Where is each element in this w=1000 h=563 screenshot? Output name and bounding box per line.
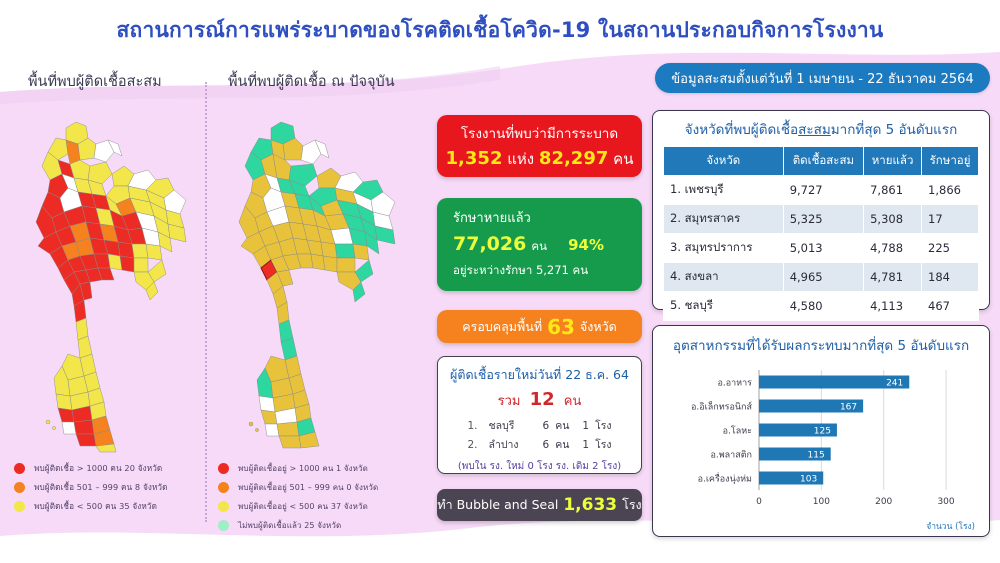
legend-item: พบผู้ติดเชื้ออยู่ < 500 คน 37 จังหวัด [218,500,378,513]
cell-treating: 184 [922,263,979,292]
title-post: มากที่สุด 5 อันดับแรก [831,122,958,138]
cell-treating: 467 [922,292,979,321]
recovered-box: รักษาหายแล้ว 77,026 คน 94% อยู่ระหว่างรั… [437,198,642,291]
top-industries-panel: อุตสาหกรรมที่ได้รับผลกระทบมากที่สุด 5 อั… [652,325,990,537]
legend-cumulative: พบผู้ติดเชื้อ > 1000 คน 20 จังหวัด พบผู้… [14,462,168,519]
legend-dot-red [218,463,229,474]
legend-dot-orange [218,482,229,493]
factories-outbreak-box: โรงงานที่พบว่ามีการระบาด 1,352 แห่ง 82,2… [437,115,642,177]
legend-label: พบผู้ติดเชื้อ 501 – 999 คน 8 จังหวัด [34,481,168,494]
coverage-box: ครอบคลุมพื้นที่ 63 จังหวัด [437,310,642,343]
cell-cumulative: 4,580 [783,292,863,321]
treating-label: อยู่ระหว่างรักษา [453,263,532,277]
bar-category-label: อ.โลหะ [723,426,753,437]
top-industries-title: อุตสาหกรรมที่ได้รับผลกระทบมากที่สุด 5 อั… [663,334,979,356]
table-row: 1. เพชรบุรี 9,727 7,861 1,866 [664,176,979,205]
col-recovered: หายแล้ว [864,147,922,176]
bar-category-label: อ.พลาสติก [710,450,752,461]
bubble-seal-value: 1,633 [563,495,617,515]
legend-label: พบผู้ติดเชื้ออยู่ > 1000 คน 1 จังหวัด [238,462,368,475]
cell-recovered: 4,113 [864,292,922,321]
bar-value-label: 125 [814,427,831,437]
factories-count: 1,352 [446,148,503,169]
legend-item: พบผู้ติดเชื้อ 501 – 999 คน 8 จังหวัด [14,481,168,494]
bar-value-label: 167 [840,403,857,413]
legend-current: พบผู้ติดเชื้ออยู่ > 1000 คน 1 จังหวัด พบ… [218,462,378,538]
recovered-label: รักษาหายแล้ว [453,207,642,228]
legend-dot-red [14,463,25,474]
legend-label: พบผู้ติดเชื้อ < 500 คน 35 จังหวัด [34,500,157,513]
cell-treating: 17 [922,205,979,234]
table-row: 1. ชลบุรี 6 คน 1 โรง [464,416,614,435]
legend-label: พบผู้ติดเชื้ออยู่ 501 – 999 คน 0 จังหวัด [238,481,378,494]
bar-value-label: 103 [800,475,817,485]
bar-category-label: อ.เครื่องนุ่งห่ม [698,472,752,485]
col-treating: รักษาอยู่ [922,147,979,176]
cell-recovered: 4,788 [864,234,922,263]
x-axis-tick-label: 200 [875,497,892,507]
row-factories: 1 [572,416,592,435]
legend-item: พบผู้ติดเชื้ออยู่ > 1000 คน 1 จังหวัด [218,462,378,475]
coverage-suffix: จังหวัด [580,317,617,337]
recovered-values: 77,026 คน 94% [453,233,642,256]
legend-dot-orange [14,482,25,493]
treating-row: อยู่ระหว่างรักษา 5,271 คน [453,262,642,280]
legend-dot-yellow [218,501,229,512]
recovered-value: 77,026 [453,233,526,255]
row-people-unit: คน [552,416,572,435]
legend-dot-mint [218,520,229,531]
legend-dot-yellow [14,501,25,512]
bar-value-label: 115 [808,451,825,461]
cell-treating: 1,866 [922,176,979,205]
new-cases-header: ผู้ติดเชื้อรายใหม่วันที่ 22 ธ.ค. 64 [438,365,641,385]
coverage-value: 63 [547,315,575,339]
treating-unit: คน [573,263,589,277]
table-row: 2. สมุทรสาคร 5,325 5,308 17 [664,205,979,234]
col-province: จังหวัด [664,147,784,176]
thailand-map-current [215,104,415,454]
cell-cumulative: 4,965 [783,263,863,292]
coverage-prefix: ครอบคลุมพื้นที่ [462,317,542,337]
bubble-and-seal-box: ทำ Bubble and Seal 1,633 โรง [437,489,642,521]
legend-item: พบผู้ติดเชื้อ > 1000 คน 20 จังหวัด [14,462,168,475]
title-pre: จังหวัดที่พบผู้ติดเชื้อ [685,122,798,138]
bar-category-label: อ.อิเล็กทรอนิกส์ [691,400,752,413]
x-axis-tick-label: 0 [756,497,762,507]
map-divider [205,82,207,522]
page-title: สถานการณ์การแพร่ระบาดของโรคติดเชื้อโควิด… [0,14,1000,47]
cell-cumulative: 5,325 [783,205,863,234]
row-rank: 1. [464,416,480,435]
row-province: ชลบุรี [481,416,529,435]
cell-recovered: 5,308 [864,205,922,234]
x-axis-tick-label: 300 [937,497,954,507]
top-provinces-table: จังหวัด ติดเชื้อสะสม หายแล้ว รักษาอยู่ 1… [663,146,979,321]
map-left-header: พื้นที่พบผู้ติดเชื้อสะสม [28,70,162,93]
recovered-percent: 94% [568,236,604,254]
table-header-row: จังหวัด ติดเชื้อสะสม หายแล้ว รักษาอยู่ [664,147,979,176]
legend-label: ไม่พบผู้ติดเชื้อแล้ว 25 จังหวัด [238,519,341,532]
legend-item: ไม่พบผู้ติดเชื้อแล้ว 25 จังหวัด [218,519,378,532]
table-row: 4. สงขลา 4,965 4,781 184 [664,263,979,292]
bubble-seal-prefix: ทำ Bubble and Seal [437,495,558,515]
bar-category-label: อ.อาหาร [717,379,752,389]
new-cases-total: รวม 12 คน [438,389,641,411]
row-people: 6 [529,416,553,435]
cell-province: 2. สมุทรสาคร [664,205,784,234]
title-underline: สะสม [798,122,831,138]
cell-cumulative: 9,727 [783,176,863,205]
factories-people-unit: คน [613,150,633,168]
legend-item: พบผู้ติดเชื้อ < 500 คน 35 จังหวัด [14,500,168,513]
cell-cumulative: 5,013 [783,234,863,263]
cell-recovered: 7,861 [864,176,922,205]
row-factories: 1 [572,435,592,454]
top-provinces-panel: จังหวัดที่พบผู้ติดเชื้อสะสมมากที่สุด 5 อ… [652,110,990,310]
cell-province: 3. สมุทรปราการ [664,234,784,263]
table-row: 2. ลำปาง 6 คน 1 โรง [464,435,614,454]
table-row: 5. ชลบุรี 4,580 4,113 467 [664,292,979,321]
new-cases-total-unit: คน [564,394,582,409]
legend-label: พบผู้ติดเชื้ออยู่ < 500 คน 37 จังหวัด [238,500,368,513]
new-cases-footnote: (พบใน รง. ใหม่ 0 โรง รง. เดิม 2 โรง) [438,459,641,474]
cell-treating: 225 [922,234,979,263]
factories-people: 82,297 [539,148,608,169]
cell-recovered: 4,781 [864,263,922,292]
cell-province: 4. สงขลา [664,263,784,292]
row-factories-unit: โรง [592,416,614,435]
bar-chart-svg: 241อ.อาหาร167อ.อิเล็กทรอนิกส์125อ.โลหะ11… [663,362,981,522]
new-cases-total-value: 12 [530,389,555,410]
thailand-map-cumulative [18,104,203,454]
row-province: ลำปาง [481,435,529,454]
x-axis-tick-label: 100 [813,497,830,507]
new-cases-table: 1. ชลบุรี 6 คน 1 โรง 2. ลำปาง 6 คน 1 โรง [464,416,614,454]
row-factories-unit: โรง [592,435,614,454]
treating-value: 5,271 [536,263,569,277]
row-rank: 2. [464,435,480,454]
recovered-unit: คน [531,239,547,253]
industries-bar-chart: 241อ.อาหาร167อ.อิเล็กทรอนิกส์125อ.โลหะ11… [663,362,981,534]
legend-label: พบผู้ติดเชื้อ > 1000 คน 20 จังหวัด [34,462,162,475]
row-people-unit: คน [552,435,572,454]
bubble-seal-suffix: โรง [622,495,642,515]
date-range-banner: ข้อมูลสะสมตั้งแต่วันที่ 1 เมษายน - 22 ธั… [655,63,990,93]
top-provinces-title: จังหวัดที่พบผู้ติดเชื้อสะสมมากที่สุด 5 อ… [663,118,979,140]
factories-values: 1,352 แห่ง 82,297 คน [446,147,634,171]
dashboard-page: สถานการณ์การแพร่ระบาดของโรคติดเชื้อโควิด… [0,0,1000,563]
new-cases-total-label: รวม [498,394,521,409]
cell-province: 1. เพชรบุรี [664,176,784,205]
factories-count-unit: แห่ง [507,150,534,168]
cell-province: 5. ชลบุรี [664,292,784,321]
new-cases-panel: ผู้ติดเชื้อรายใหม่วันที่ 22 ธ.ค. 64 รวม … [437,356,642,474]
x-axis-unit-label: จำนวน (โรง) [926,519,975,533]
factories-label: โรงงานที่พบว่ามีการระบาด [461,122,618,144]
col-cumulative: ติดเชื้อสะสม [783,147,863,176]
map-right-header: พื้นที่พบผู้ติดเชื้อ ณ ปัจจุบัน [228,70,395,93]
table-row: 3. สมุทรปราการ 5,013 4,788 225 [664,234,979,263]
legend-item: พบผู้ติดเชื้ออยู่ 501 – 999 คน 0 จังหวัด [218,481,378,494]
row-people: 6 [529,435,553,454]
bar-value-label: 241 [886,379,903,389]
